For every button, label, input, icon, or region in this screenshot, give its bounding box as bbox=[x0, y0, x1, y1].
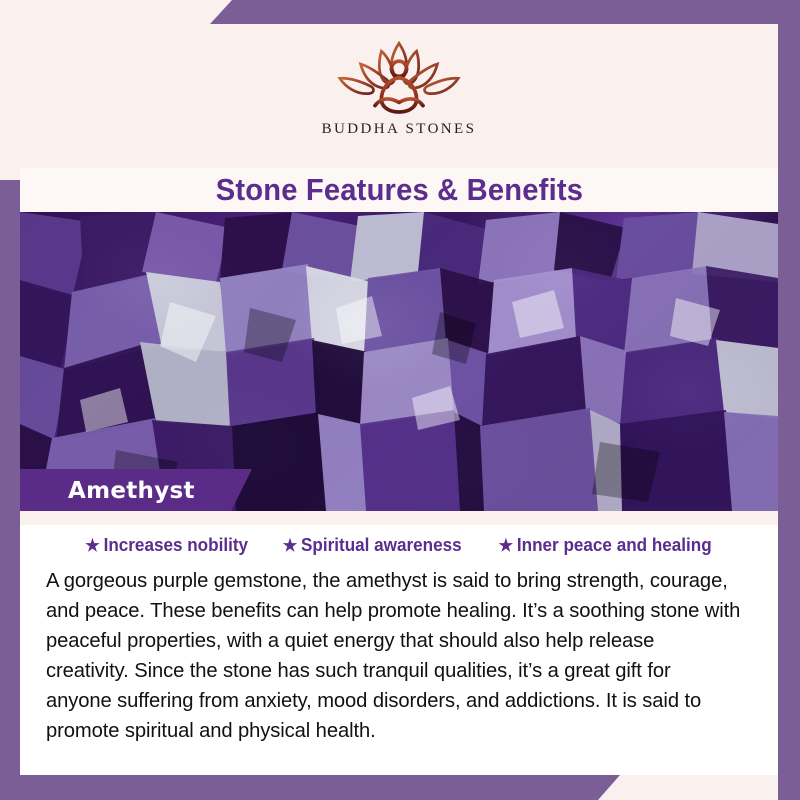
inner-canvas: BUDDHA STONES Stone Features & Benefits bbox=[20, 26, 778, 775]
stone-name-badge: Amethyst bbox=[20, 469, 252, 511]
stone-photo: Amethyst bbox=[20, 212, 778, 511]
benefit-item-3: ★ Inner peace and healing bbox=[498, 535, 711, 556]
lotus-meditation-icon bbox=[319, 32, 479, 120]
title-bar: Stone Features & Benefits bbox=[20, 168, 778, 212]
frame-band-top bbox=[210, 0, 800, 24]
star-icon: ★ bbox=[498, 537, 512, 554]
benefit-item-1: ★ Increases nobility bbox=[85, 535, 248, 556]
brand-name: BUDDHA STONES bbox=[322, 121, 477, 138]
frame-band-left bbox=[0, 180, 20, 800]
brand-header: BUDDHA STONES bbox=[20, 26, 778, 168]
benefit-item-2: ★ Spiritual awareness bbox=[283, 535, 462, 556]
benefit-label: Inner peace and healing bbox=[517, 535, 712, 556]
page-title: Stone Features & Benefits bbox=[215, 172, 582, 208]
benefit-label: Increases nobility bbox=[104, 535, 248, 556]
star-icon: ★ bbox=[283, 537, 297, 554]
frame-band-right bbox=[778, 0, 800, 800]
stone-name-text: Amethyst bbox=[68, 478, 195, 504]
benefit-label: Spiritual awareness bbox=[301, 535, 462, 556]
infographic-page: BUDDHA STONES Stone Features & Benefits bbox=[0, 0, 800, 800]
content-area: ★ Increases nobility ★ Spiritual awarene… bbox=[20, 511, 778, 775]
frame-band-bottom bbox=[0, 775, 620, 800]
star-icon: ★ bbox=[85, 537, 99, 554]
cream-divider-strip bbox=[20, 511, 778, 525]
stone-description: A gorgeous purple gemstone, the amethyst… bbox=[46, 566, 741, 746]
crystal-facets bbox=[20, 212, 778, 511]
